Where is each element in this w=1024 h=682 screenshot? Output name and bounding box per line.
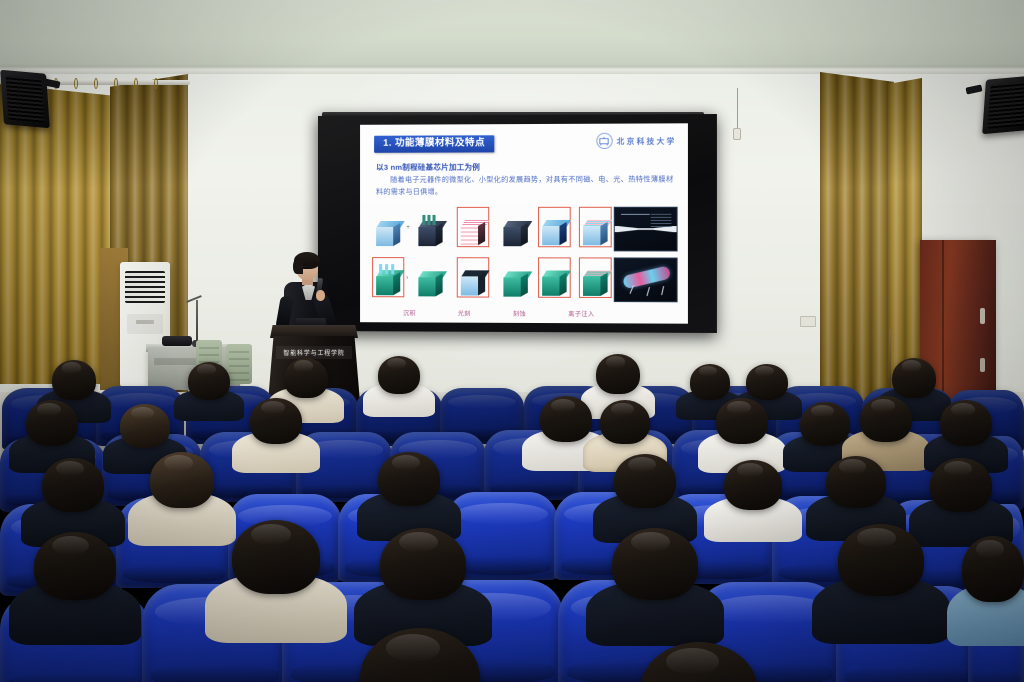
curtain-ring [74,78,78,89]
wall-socket-plate [800,316,816,327]
audience-member-head [26,400,78,446]
wafer-chip-icon [418,271,442,297]
tem-scalebar [621,214,650,215]
wall-speaker-left [0,70,50,129]
callout-arrow-icon [646,287,650,296]
audience-member-head [150,452,214,508]
audience-member-head [600,400,650,444]
audience-member-head [690,364,730,400]
diagram-step [499,207,532,247]
audience-member-head [42,458,104,512]
wafer-chip-icon [376,221,400,247]
audience-member-head [800,402,850,446]
av-equipment [162,336,192,346]
audience-member-head [612,528,698,600]
audience-member-head [52,360,96,400]
curtain-ring [134,78,138,89]
diagram-step-highlighted [579,257,612,298]
audience-member-head [380,528,466,600]
audience-member-head [378,452,440,506]
audience-member-head [232,520,320,594]
audience-member-head [930,458,992,512]
slide-title-banner: 1. 功能薄膜材料及特点 [374,135,494,152]
wafer-chip-icon [542,270,567,296]
diagram-step [414,207,446,247]
ac-logo [136,320,154,324]
university-seal-icon [596,133,612,149]
tem-micrograph-photo [614,207,678,252]
wall-sensor [733,128,741,140]
diagram-step [372,207,404,247]
audience-member-head [746,364,788,400]
callout-arrow-icon [661,286,664,295]
audience-member-head [962,536,1024,602]
process-label-2: 刻蚀 [513,309,526,318]
wafer-chip-icon [376,270,400,296]
audience-member-head [284,358,328,398]
curtain-ring [94,78,98,89]
diagram-step-highlighted [372,257,404,297]
audience-member-head [892,358,936,398]
audience-member-head [378,356,420,394]
ac-control-panel [127,314,163,334]
tem-annotation [651,213,672,227]
process-step-labels: 沉积 光刻 刻蚀 离子注入 [382,308,616,318]
wall-speaker-right [982,76,1024,135]
wafer-chip-icon [503,221,527,247]
audience-seating [0,352,1024,682]
wafer-chip-icon [418,221,442,247]
audience-member-head [188,362,230,400]
nanostructure-photo [614,257,678,302]
audience-member-head [596,354,640,394]
process-label-0: 沉积 [403,308,416,317]
slide-body-text: 随着电子元器件的微型化、小型化的发展趋势，对具有不同磁、电、光、热特性薄膜材料的… [376,174,673,199]
door-handle-icon[interactable] [980,308,985,324]
audience-member-head [540,396,592,442]
wafer-chip-icon [461,220,485,246]
diagram-plus-icon: + [406,225,410,231]
wafer-chip-icon [461,270,485,296]
diagram-step-highlighted [457,257,489,297]
diagram-step-highlighted [538,257,571,298]
audience-member-head [724,460,782,510]
diagram-step-highlighted [457,207,489,247]
process-flow-diagram: + [372,207,678,307]
diagram-step [414,257,446,297]
audience-member-head [716,398,768,444]
diagram-row-bottom: › [372,257,616,302]
audience-member-head [34,532,116,600]
process-label-3: 离子注入 [568,309,594,318]
diagram-arrow-icon: › [406,275,408,281]
ceiling-cable [737,88,738,130]
audience-member-head [250,398,302,444]
speaker-grill-icon [988,81,1024,129]
wafer-chip-icon [583,271,608,297]
audience-member-head [860,396,912,442]
diagram-step [499,257,532,297]
presenter-glasses-icon [297,266,315,270]
ceiling [0,0,1024,72]
curtain-right-inner [888,78,922,378]
curtain-ring [154,78,158,89]
diagram-step-highlighted [579,207,612,248]
diagram-step-highlighted [538,207,571,247]
slide-logo: 北京科技大学 [596,133,676,150]
audience-member-head [940,400,992,446]
wafer-chip-icon [583,220,608,246]
slide-subtitle: 以3 nm制程硅基芯片加工为例 [376,162,480,173]
curtain-ring [114,78,118,89]
wafer-chip-icon [503,271,527,297]
curtain-left-outer [0,84,116,384]
lecture-hall-scene: 1. 功能薄膜材料及特点 北京科技大学 以3 nm制程硅基芯片加工为例 随着电子… [0,0,1024,682]
diagram-row-top: + [372,207,616,252]
audience-member-head [614,454,676,508]
ac-vent-icon [125,271,165,303]
slide-body-paragraph: 随着电子元器件的微型化、小型化的发展趋势，对具有不同磁、电、光、热特性薄膜材料的… [376,176,673,196]
slide-title: 1. 功能薄膜材料及特点 [383,138,485,148]
wafer-chip-icon [542,220,567,246]
speaker-grill-icon [6,75,45,123]
university-name: 北京科技大学 [617,135,677,146]
audience-member-head [826,456,886,508]
presenter-hand [316,290,325,301]
presentation-slide[interactable]: 1. 功能薄膜材料及特点 北京科技大学 以3 nm制程硅基芯片加工为例 随着电子… [360,123,688,323]
process-label-1: 光刻 [458,309,471,318]
audience-member-head [838,524,924,596]
audience-member-head [120,404,170,448]
projection-screen[interactable]: 1. 功能薄膜材料及特点 北京科技大学 以3 nm制程硅基芯片加工为例 随着电子… [318,114,717,333]
